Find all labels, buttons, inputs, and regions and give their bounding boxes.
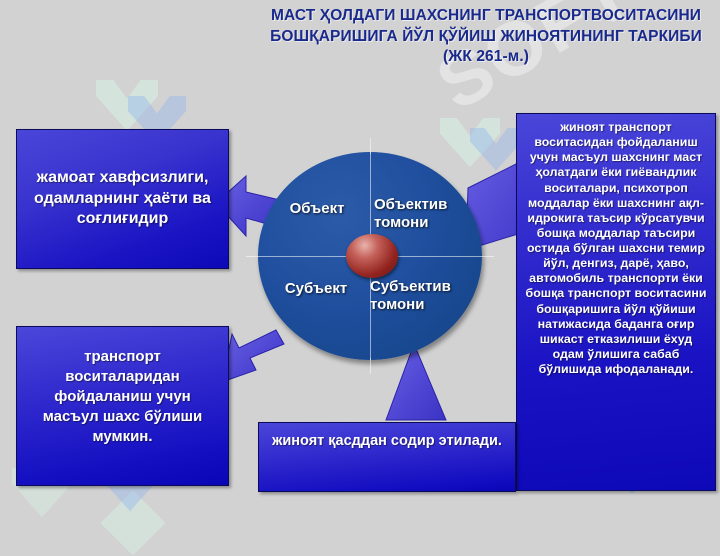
object-description-box: жамоат хавфсизлиги, одамларнинг ҳаёти ва…: [16, 129, 229, 269]
wheel-label-object: Объект: [268, 200, 366, 218]
wheel-label-objective-side: Объектив томони: [374, 196, 478, 231]
subjective-side-description-box: жиноят қасддан содир этилади.: [258, 422, 516, 492]
objective-side-description-text: жиноят транспорт воситасидан фойдаланиш …: [517, 114, 715, 377]
objective-side-description-box: жиноят транспорт воситасидан фойдаланиш …: [516, 113, 716, 491]
wheel-label-subjective-side: Субъектив томони: [370, 278, 478, 313]
subject-description-text: транспорт воситаларидан фойдаланиш учун …: [17, 327, 228, 447]
subject-description-box: транспорт воситаларидан фойдаланиш учун …: [16, 326, 229, 486]
wheel-hub-sphere-icon: [346, 234, 398, 278]
wheel-label-subject: Субъект: [266, 280, 366, 298]
concept-wheel: Объект Объектив томони Субъект Субъектив…: [258, 152, 482, 360]
wheel-axis-bottom: [370, 358, 371, 374]
slide-canvas: SOFT SOFT МАСТ ҲОЛДАГИ ШАХСНИНГ ТРАНСПОР…: [0, 0, 720, 540]
subjective-side-description-text: жиноят қасддан содир этилади.: [259, 423, 515, 451]
object-description-text: жамоат хавфсизлиги, одамларнинг ҳаёти ва…: [17, 168, 228, 229]
